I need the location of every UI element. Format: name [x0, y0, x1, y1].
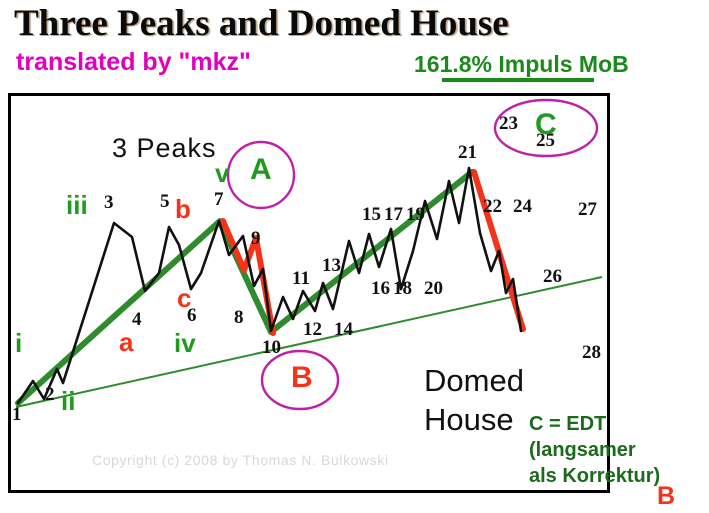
- green-advance-trendline-10-25: [271, 172, 472, 332]
- point-label-16: 16: [371, 279, 390, 298]
- point-label-26: 26: [543, 267, 562, 286]
- chart-canvas: Three Peaks and Domed House translated b…: [0, 0, 709, 513]
- point-label-4: 4: [132, 310, 142, 329]
- circled-label-a-text: A: [250, 155, 272, 185]
- wave-label-v: v: [215, 160, 229, 186]
- point-label-27: 27: [578, 200, 597, 219]
- point-label-10: 10: [262, 338, 281, 357]
- point-label-22: 22: [483, 197, 502, 216]
- point-label-5: 5: [160, 192, 170, 211]
- point-label-14: 14: [334, 320, 353, 339]
- point-label-19: 19: [406, 205, 425, 224]
- corner-label-b: B: [657, 482, 675, 511]
- edt-note-line2: (langsamer: [529, 440, 636, 460]
- point-label-18: 18: [393, 279, 412, 298]
- point-label-21: 21: [458, 143, 477, 162]
- wave-label-c: c: [177, 285, 191, 311]
- point-label-7: 7: [214, 190, 224, 209]
- domed-house-label-line2: House: [424, 404, 514, 435]
- wave-label-b: b: [175, 196, 191, 222]
- point-label-17: 17: [384, 205, 403, 224]
- wave-label-i: i: [15, 330, 22, 356]
- point-label-23: 23: [499, 114, 518, 133]
- wave-label-iii: iii: [66, 192, 88, 218]
- point-label-3: 3: [104, 193, 114, 212]
- three-peaks-label: 3 Peaks: [112, 135, 217, 162]
- circled-label-b-text: B: [291, 363, 313, 393]
- point-label-15: 15: [362, 205, 381, 224]
- point-label-13: 13: [322, 256, 341, 275]
- point-label-9: 9: [251, 229, 261, 248]
- edt-note-line1: C = EDT: [529, 414, 606, 434]
- point-label-11: 11: [292, 269, 310, 288]
- domed-house-label-line1: Domed: [424, 365, 524, 396]
- wave-label-iv: iv: [174, 330, 196, 356]
- wave-label-a: a: [119, 329, 133, 355]
- point-label-8: 8: [234, 308, 244, 327]
- point-label-12: 12: [303, 320, 322, 339]
- point-label-24: 24: [513, 197, 532, 216]
- circled-label-c-text: C: [535, 110, 557, 140]
- point-label-2: 2: [45, 385, 55, 404]
- point-label-20: 20: [424, 279, 443, 298]
- wave-label-ii: ii: [61, 388, 75, 414]
- chart-drawing-layer: [0, 0, 709, 513]
- copyright-watermark: Copyright (c) 2008 by Thomas N. Bulkowsk…: [92, 452, 389, 468]
- point-label-1: 1: [12, 405, 22, 424]
- edt-note-line3: als Korrektur): [529, 466, 660, 486]
- point-label-28: 28: [582, 343, 601, 362]
